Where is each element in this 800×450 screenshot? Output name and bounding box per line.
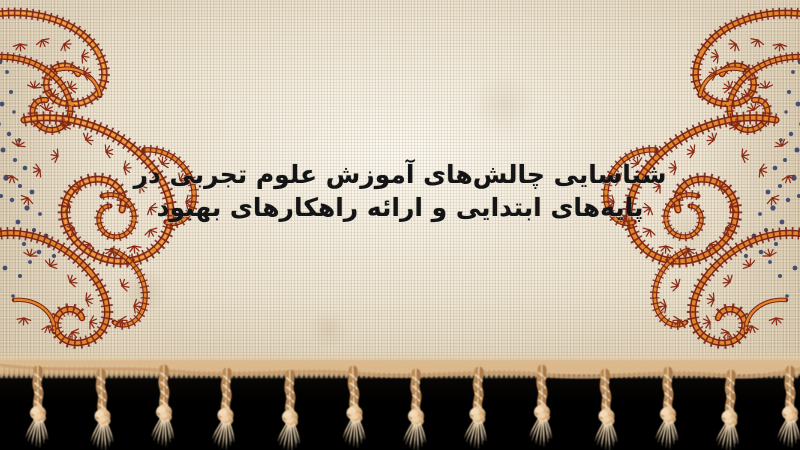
- title-line-2: پایه‌های ابتدایی و ارائه راهکارهای بهبود: [157, 191, 644, 224]
- title-card-canvas: شناسایی چالش‌های آموزش علوم تجربی در پای…: [0, 0, 800, 450]
- page-title: شناسایی چالش‌های آموزش علوم تجربی در پای…: [0, 158, 800, 224]
- knotted-tassel-fringe: [0, 360, 800, 450]
- title-line-1: شناسایی چالش‌های آموزش علوم تجربی در: [134, 158, 667, 191]
